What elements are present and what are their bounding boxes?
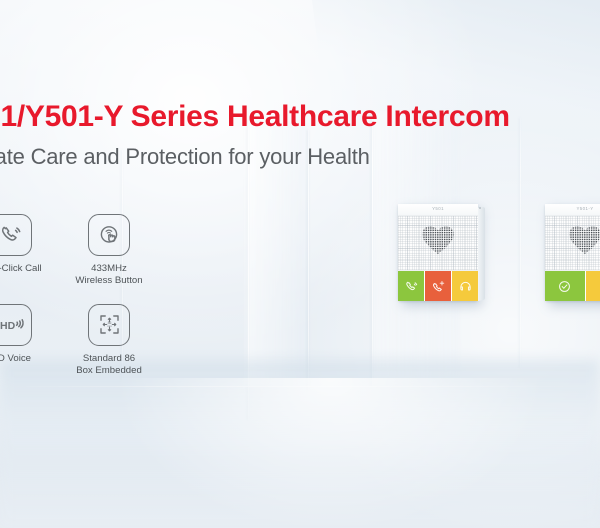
speaker-grille [545,216,600,270]
assistance-button[interactable] [586,271,600,301]
product-banner: Y501/Y501-Y Series Healthcare Intercom I… [0,0,600,528]
button-row [545,270,600,301]
phone-call-icon [0,214,32,256]
feature-item-wireless-button: 433MHz Wireless Button [66,214,152,288]
device-top-strip: Y501 [398,204,478,216]
feature-label: Standard 86 Box Embedded [76,353,142,378]
call-button[interactable] [398,271,425,301]
device-body: Y501-Y [545,204,600,301]
svg-text:HD: HD [0,320,16,332]
button-row [398,270,478,301]
intercom-unit-y501-y[interactable]: Y501-Y [545,204,600,301]
device-top-strip: Y501-Y [545,204,600,216]
box-embedded-icon: 86 mm [88,304,130,346]
floor-sheen [120,378,540,528]
assistance-button[interactable] [452,271,478,301]
feature-item-one-click-call: One-Click Call [0,214,54,288]
feature-label: 433MHz Wireless Button [75,263,142,288]
device-side-edge [478,207,485,301]
svg-text:mm: mm [107,324,112,328]
heart-shape [568,225,600,255]
feature-list: One-Click Call 433MHz Wireless Button [0,214,198,377]
feature-label: One-Click Call [0,263,42,275]
intercom-unit-y501[interactable]: Y501 [398,204,484,301]
feature-item-hd-voice: HD HD Voice [0,304,54,378]
confirm-button[interactable] [545,271,586,301]
emergency-button[interactable] [425,271,452,301]
feature-label: HD Voice [0,353,31,365]
brand-logo: Y501-Y [576,206,593,211]
page-title: Y501/Y501-Y Series Healthcare Intercom [0,100,600,134]
feature-item-box-embedded: 86 mm Standard 86 Box Embedded [66,304,152,378]
hd-voice-icon: HD [0,304,32,346]
speaker-grille [398,216,478,270]
device-body: Y501 [398,204,478,301]
brand-logo: Y501 [432,206,444,211]
wireless-press-button-icon [88,214,130,256]
headline-block: Y501/Y501-Y Series Healthcare Intercom I… [0,100,600,170]
heart-shape [421,225,455,255]
page-subtitle: Intimate Care and Protection for your He… [0,144,600,170]
